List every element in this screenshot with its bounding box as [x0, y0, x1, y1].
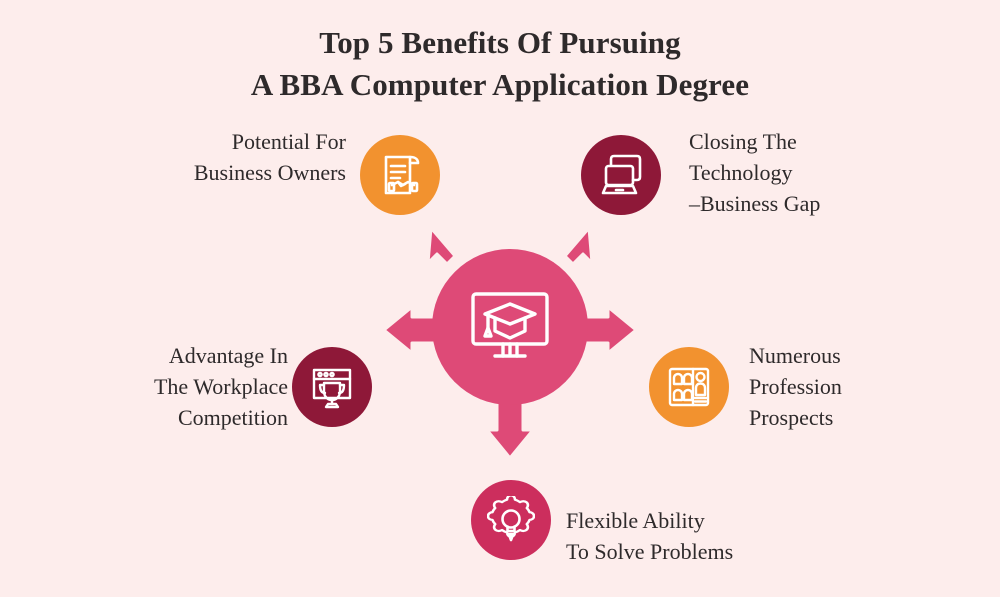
benefit-label-business-owners: Potential For Business Owners	[194, 126, 346, 188]
gear-lightbulb-icon	[487, 496, 535, 544]
contract-handshake-icon	[376, 151, 424, 199]
label-line: –Business Gap	[689, 188, 820, 219]
label-line: Prospects	[749, 402, 842, 433]
benefit-icon-technology-gap[interactable]	[581, 135, 661, 215]
label-line: Technology	[689, 157, 820, 188]
benefit-icon-workplace[interactable]	[292, 347, 372, 427]
monitor-graduation-cap-icon	[467, 290, 553, 364]
label-line: Business Owners	[194, 157, 346, 188]
infographic-root: Top 5 Benefits Of Pursuing A BBA Compute…	[0, 0, 1000, 597]
radial-diagram: Potential For Business Owners Closing Th…	[0, 0, 1000, 597]
label-line: Closing The	[689, 126, 820, 157]
label-line: Advantage In	[154, 340, 288, 371]
benefit-icon-profession[interactable]	[649, 347, 729, 427]
hub-circle	[432, 249, 588, 405]
benefit-label-profession: Numerous Profession Prospects	[749, 340, 842, 433]
benefit-label-workplace: Advantage In The Workplace Competition	[154, 340, 288, 433]
laptop-monitor-icon	[597, 153, 645, 197]
label-line: The Workplace	[154, 371, 288, 402]
benefit-label-problem-solving: Flexible Ability To Solve Problems	[566, 505, 733, 567]
benefit-icon-problem-solving[interactable]	[471, 480, 551, 560]
label-line: To Solve Problems	[566, 536, 733, 567]
label-line: Profession	[749, 371, 842, 402]
benefit-label-technology-gap: Closing The Technology –Business Gap	[689, 126, 820, 219]
label-line: Competition	[154, 402, 288, 433]
label-line: Potential For	[194, 126, 346, 157]
browser-trophy-icon	[308, 364, 356, 410]
label-line: Flexible Ability	[566, 505, 733, 536]
label-line: Numerous	[749, 340, 842, 371]
id-card-icon	[665, 363, 713, 411]
benefit-icon-business-owners[interactable]	[360, 135, 440, 215]
